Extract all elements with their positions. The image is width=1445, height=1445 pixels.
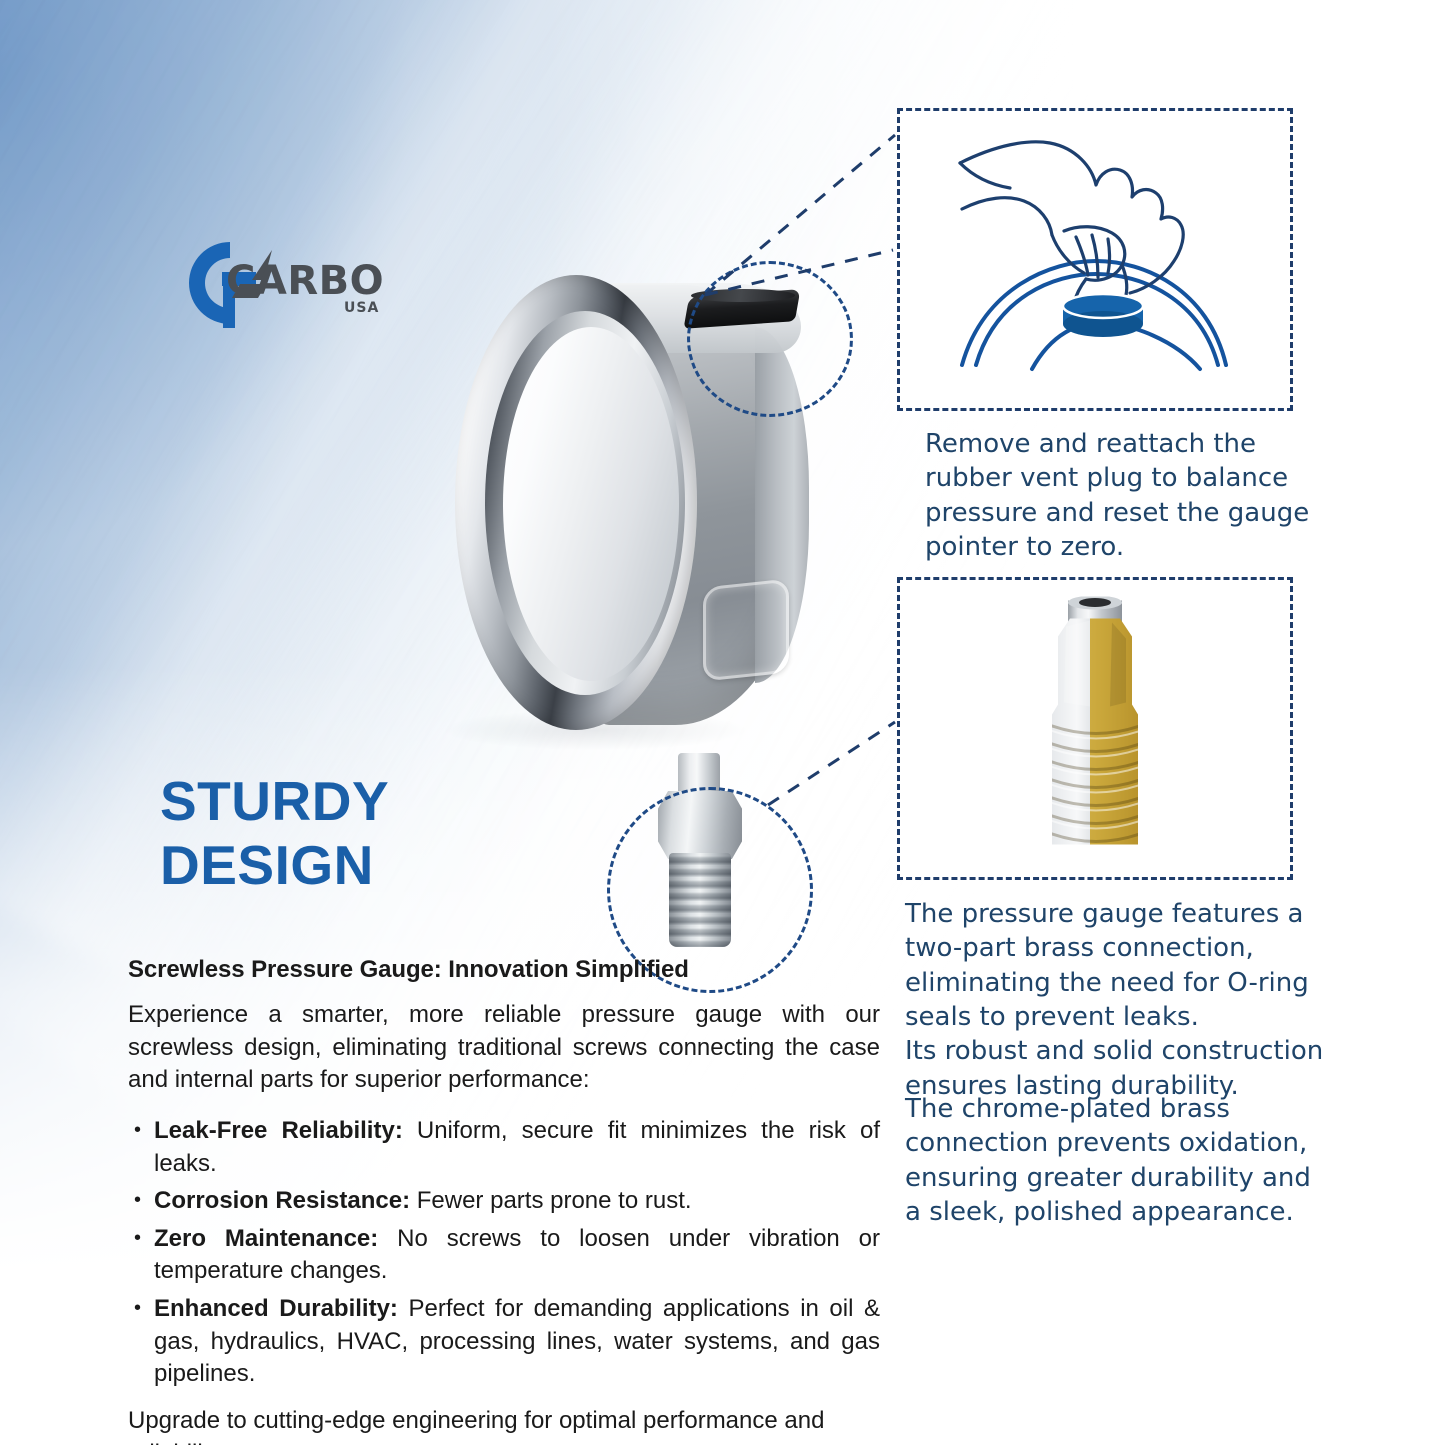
vent-plug-disc (1063, 294, 1143, 337)
bullet-label: Leak-Free Reliability: (154, 1117, 403, 1144)
gauge-glass (503, 327, 679, 681)
bullet-text: Fewer parts prone to rust. (410, 1187, 691, 1214)
callout-text-vent-plug: Remove and reattach the rubber vent plug… (925, 427, 1325, 564)
callout-box-brass-connection (897, 577, 1293, 880)
vent-plug-highlight-circle (687, 261, 853, 417)
callout-text-chrome-plating: The chrome-plated brass connection preve… (905, 1092, 1325, 1229)
svg-text:CARBO: CARBO (226, 258, 384, 304)
gauge-emblem (703, 578, 789, 681)
feature-bullet-list: Leak-Free Reliability: Uniform, secure f… (128, 1115, 880, 1391)
chrome-brass-connector-figure (1020, 596, 1170, 861)
copy-heading: Screwless Pressure Gauge: Innovation Sim… (128, 955, 880, 985)
bullet-label: Zero Maintenance: (154, 1225, 378, 1252)
connector-body (1020, 596, 1170, 861)
callout-box-vent-plug (897, 108, 1293, 411)
infographic-page: CARBO USA STURDY DESIGN (0, 0, 1445, 1445)
pressure-gauge-product-image (395, 240, 855, 940)
carbo-logo: CARBO USA (168, 228, 388, 338)
copy-intro: Experience a smarter, more reliable pres… (128, 999, 880, 1097)
list-item: Enhanced Durability: Perfect for demandi… (128, 1293, 880, 1391)
hand-removing-vent-plug-icon (900, 111, 1284, 402)
gauge-case (455, 275, 785, 730)
list-item: Corrosion Resistance: Fewer parts prone … (128, 1185, 880, 1218)
svg-text:USA: USA (344, 300, 379, 316)
bullet-label: Enhanced Durability: (154, 1295, 398, 1322)
callout-text-brass-connection: The pressure gauge features a two-part b… (905, 897, 1325, 1103)
list-item: Zero Maintenance: No screws to loosen un… (128, 1223, 880, 1288)
bullet-label: Corrosion Resistance: (154, 1187, 410, 1214)
body-copy: Screwless Pressure Gauge: Innovation Sim… (128, 955, 880, 1445)
headline-line-1: STURDY (160, 770, 389, 832)
carbo-logo-mark: CARBO USA (168, 228, 388, 338)
copy-outro: Upgrade to cutting-edge engineering for … (128, 1405, 880, 1445)
list-item: Leak-Free Reliability: Uniform, secure f… (128, 1115, 880, 1180)
